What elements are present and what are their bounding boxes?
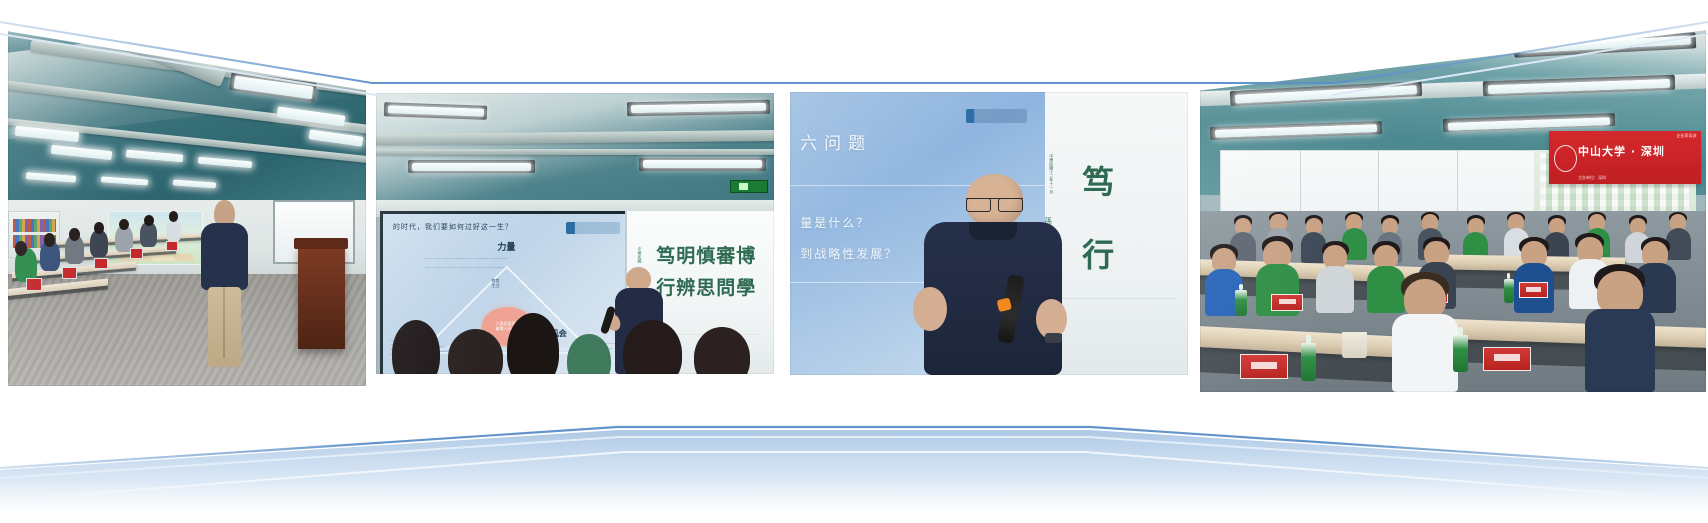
- banner-sub-note: 主办单位：深圳: [1578, 175, 1606, 181]
- nametag: [1519, 282, 1548, 298]
- audience-member-foreground: [1392, 279, 1458, 392]
- banner-top-note: 企业家培训: [1676, 133, 1696, 139]
- water-bottle: [1301, 343, 1316, 381]
- wall-sketch: [1049, 298, 1177, 373]
- speaker-figure: [921, 174, 1064, 375]
- nametag: [94, 258, 108, 269]
- ceiling-light: [412, 163, 531, 171]
- slide-line-2: 到战略性发展？: [800, 245, 898, 262]
- speaker-left-hand: [913, 287, 947, 331]
- carousel-slide-right[interactable]: 企业家培训 中山大学 · 深圳 主办单位：深圳: [1200, 14, 1706, 392]
- audience-member-foreground: [1585, 271, 1656, 392]
- audience-member: [1514, 241, 1554, 313]
- calligraphy-line-2: 行: [1082, 239, 1114, 271]
- calligraphy-line-1: 笃明慎審博: [656, 247, 756, 266]
- foreground-audience: [376, 329, 774, 374]
- perspective-bottom-rail-outer: [30, 452, 1678, 498]
- photo-gallery-carousel[interactable]: 的时代，我们要如何过好这一生？ 力量 — — —— ———— ——— —— ——…: [0, 0, 1708, 523]
- nametag: [62, 267, 77, 279]
- carousel-slide-midleft[interactable]: 的时代，我们要如何过好这一生？ 力量 — — —— ———— ——— —— ——…: [376, 93, 774, 374]
- bottom-left-bevel: [0, 388, 1090, 470]
- nametag: [26, 278, 42, 291]
- slide-node-top: 力量: [383, 240, 630, 253]
- nametag: [1483, 347, 1531, 372]
- audience-head: [448, 329, 504, 374]
- slide-logo-icon: [566, 222, 620, 233]
- audience-head: [694, 327, 750, 374]
- exit-sign: [730, 180, 768, 193]
- paper-cup: [1342, 332, 1367, 358]
- podium: [298, 245, 345, 349]
- audience-head: [623, 320, 683, 374]
- keynote-speaker-photo: 中華民國十三年十一月 笃 行 孫文 六问题 量是什么？ 到战略性发展？: [790, 92, 1188, 375]
- participant-head: [69, 228, 80, 241]
- bottom-white-mask: [0, 392, 1708, 523]
- bottom-reflection-gradient: [0, 430, 1708, 523]
- classroom-wide-photo: [8, 14, 366, 386]
- water-bottle: [1504, 279, 1514, 303]
- nametag: [130, 248, 143, 259]
- nametag: [166, 241, 179, 251]
- slide-line-1: 量是什么？: [800, 214, 870, 231]
- participant-head: [144, 215, 154, 226]
- carousel-slide-left[interactable]: [8, 14, 366, 386]
- slide-title: 六问题: [800, 129, 872, 154]
- glasses-icon: [966, 198, 1023, 211]
- instructor-figure: [201, 200, 248, 367]
- calligraphy-line-1: 笃: [1082, 166, 1114, 198]
- speaker-collar: [969, 222, 1018, 240]
- participant-head: [169, 211, 178, 221]
- audience-head: [567, 334, 611, 374]
- university-seal-icon: [1554, 145, 1577, 172]
- perspective-bottom-rail: [0, 427, 1708, 468]
- participant-head: [119, 219, 129, 230]
- participant: [166, 219, 182, 243]
- water-bottle: [1453, 335, 1468, 371]
- university-banner: 企业家培训 中山大学 · 深圳 主办单位：深圳: [1549, 131, 1701, 184]
- wristwatch: [1045, 333, 1062, 343]
- nametag: [1240, 354, 1288, 379]
- banner-text: 中山大学 · 深圳: [1578, 143, 1698, 159]
- presentation-slide-photo: 的时代，我们要如何过好这一生？ 力量 — — —— ———— ——— —— ——…: [376, 93, 774, 374]
- water-bottle: [1235, 290, 1246, 316]
- audience-head: [392, 320, 440, 374]
- nametag: [1271, 294, 1303, 311]
- participant-head: [44, 233, 55, 246]
- participant: [140, 222, 156, 247]
- audience-photo: 企业家培训 中山大学 · 深圳 主办单位：深圳: [1200, 14, 1706, 392]
- carousel-slide-center-active[interactable]: 中華民國十三年十一月 笃 行 孫文 六问题 量是什么？ 到战略性发展？: [790, 92, 1188, 375]
- audience-member: [1316, 245, 1354, 313]
- ceiling-light: [643, 160, 762, 168]
- slide-logo-icon: [966, 109, 1027, 123]
- ceiling-duct: [376, 149, 774, 155]
- calligraphy-line-2: 行辨思問學: [656, 279, 756, 298]
- perspective-bottom-rail-soft: [0, 437, 1708, 478]
